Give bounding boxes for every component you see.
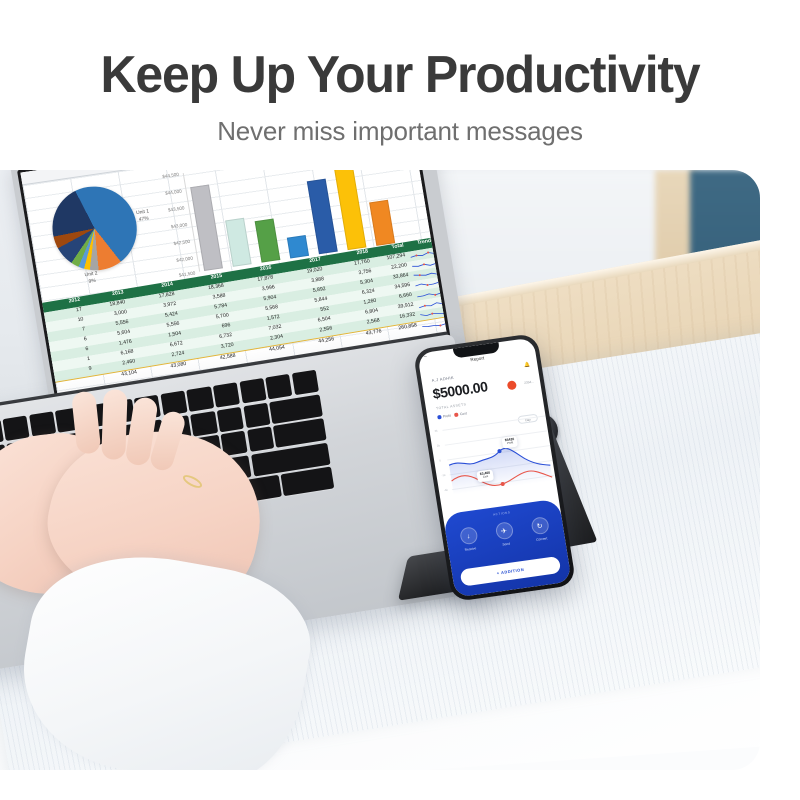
refresh-icon: ↻ xyxy=(530,516,549,535)
bar-2012[interactable] xyxy=(190,184,223,271)
add-addition-button[interactable]: + ADDITION xyxy=(460,556,562,587)
key xyxy=(247,426,274,452)
bar-2018[interactable] xyxy=(369,200,395,246)
action-label: Send xyxy=(491,540,521,548)
key xyxy=(239,378,266,404)
y-tick-4: $42,500 xyxy=(173,239,190,246)
send-icon: ✈ xyxy=(494,521,513,540)
chart-legend: Profit Cost xyxy=(437,411,467,419)
key xyxy=(243,402,270,428)
legend-dot-cost xyxy=(454,413,458,417)
pie-label-unit2: Unit 2 9% xyxy=(78,270,106,287)
y-tick-2: $43,500 xyxy=(168,205,185,212)
header: Keep Up Your Productivity Never miss imp… xyxy=(0,0,800,170)
key xyxy=(190,411,217,437)
legend-dot-profit xyxy=(437,415,441,419)
key xyxy=(265,374,292,400)
page-title: Keep Up Your Productivity xyxy=(16,45,784,105)
bar-2015[interactable] xyxy=(287,235,309,258)
finger xyxy=(101,389,127,460)
y-tick-5: $42,000 xyxy=(176,256,193,263)
action-send[interactable]: ✈ Send xyxy=(488,520,521,548)
action-receive[interactable]: ↓ Receive xyxy=(452,525,485,553)
account-name: A.J ADHIK xyxy=(431,375,454,383)
bell-icon[interactable]: 🔔 xyxy=(524,362,531,369)
bar-2014[interactable] xyxy=(255,219,281,263)
download-icon: ↓ xyxy=(459,526,478,545)
bar-2017[interactable] xyxy=(334,170,366,250)
key xyxy=(292,370,319,396)
phone-status-bar: ⎓ xyxy=(423,354,426,358)
tooltip-cost: $3,460 Cost xyxy=(476,469,494,482)
bar-2016[interactable] xyxy=(307,179,338,255)
action-convert[interactable]: ↻ Convert xyxy=(523,515,556,543)
phone-stand-assembly: ⎓ Report 🔔 A.J ADHIK $5000.00 TOTAL ASSE… xyxy=(440,350,670,650)
action-label: Convert xyxy=(527,535,557,543)
key xyxy=(217,406,244,432)
y-tick-1: $44,000 xyxy=(165,189,182,196)
pie-chart-slices xyxy=(46,181,143,276)
page-subtitle: Never miss important messages xyxy=(0,116,800,147)
promo-page: Keep Up Your Productivity Never miss imp… xyxy=(0,0,800,800)
legend-label-cost: Cost xyxy=(460,411,468,416)
card-number: 2394... xyxy=(524,380,534,385)
key xyxy=(187,386,214,412)
key xyxy=(213,382,240,408)
section-label: TOTAL ASSETS xyxy=(436,402,467,410)
y-tick-0: $44,500 xyxy=(162,172,179,179)
key-end xyxy=(281,466,335,496)
laptop: H I J K Unit 1 47% xyxy=(0,170,460,685)
legend-label-profit: Profit xyxy=(443,414,451,419)
action-label: Receive xyxy=(455,545,485,553)
mastercard-icon[interactable]: 2394... xyxy=(507,379,523,390)
balance-amount: $5000.00 xyxy=(431,378,488,401)
y-tick-3: $43,000 xyxy=(170,222,187,229)
pie-chart[interactable]: Unit 1 47% Unit 2 9% xyxy=(29,170,164,294)
bar-2013[interactable] xyxy=(225,218,252,267)
hero-photo: H I J K Unit 1 47% xyxy=(0,170,760,770)
phone-actions-panel: ACTIONS ↓ Receive ✈ Send ↻ Convert xyxy=(443,498,572,597)
tooltip-profit: $5420 Profit xyxy=(501,436,518,449)
